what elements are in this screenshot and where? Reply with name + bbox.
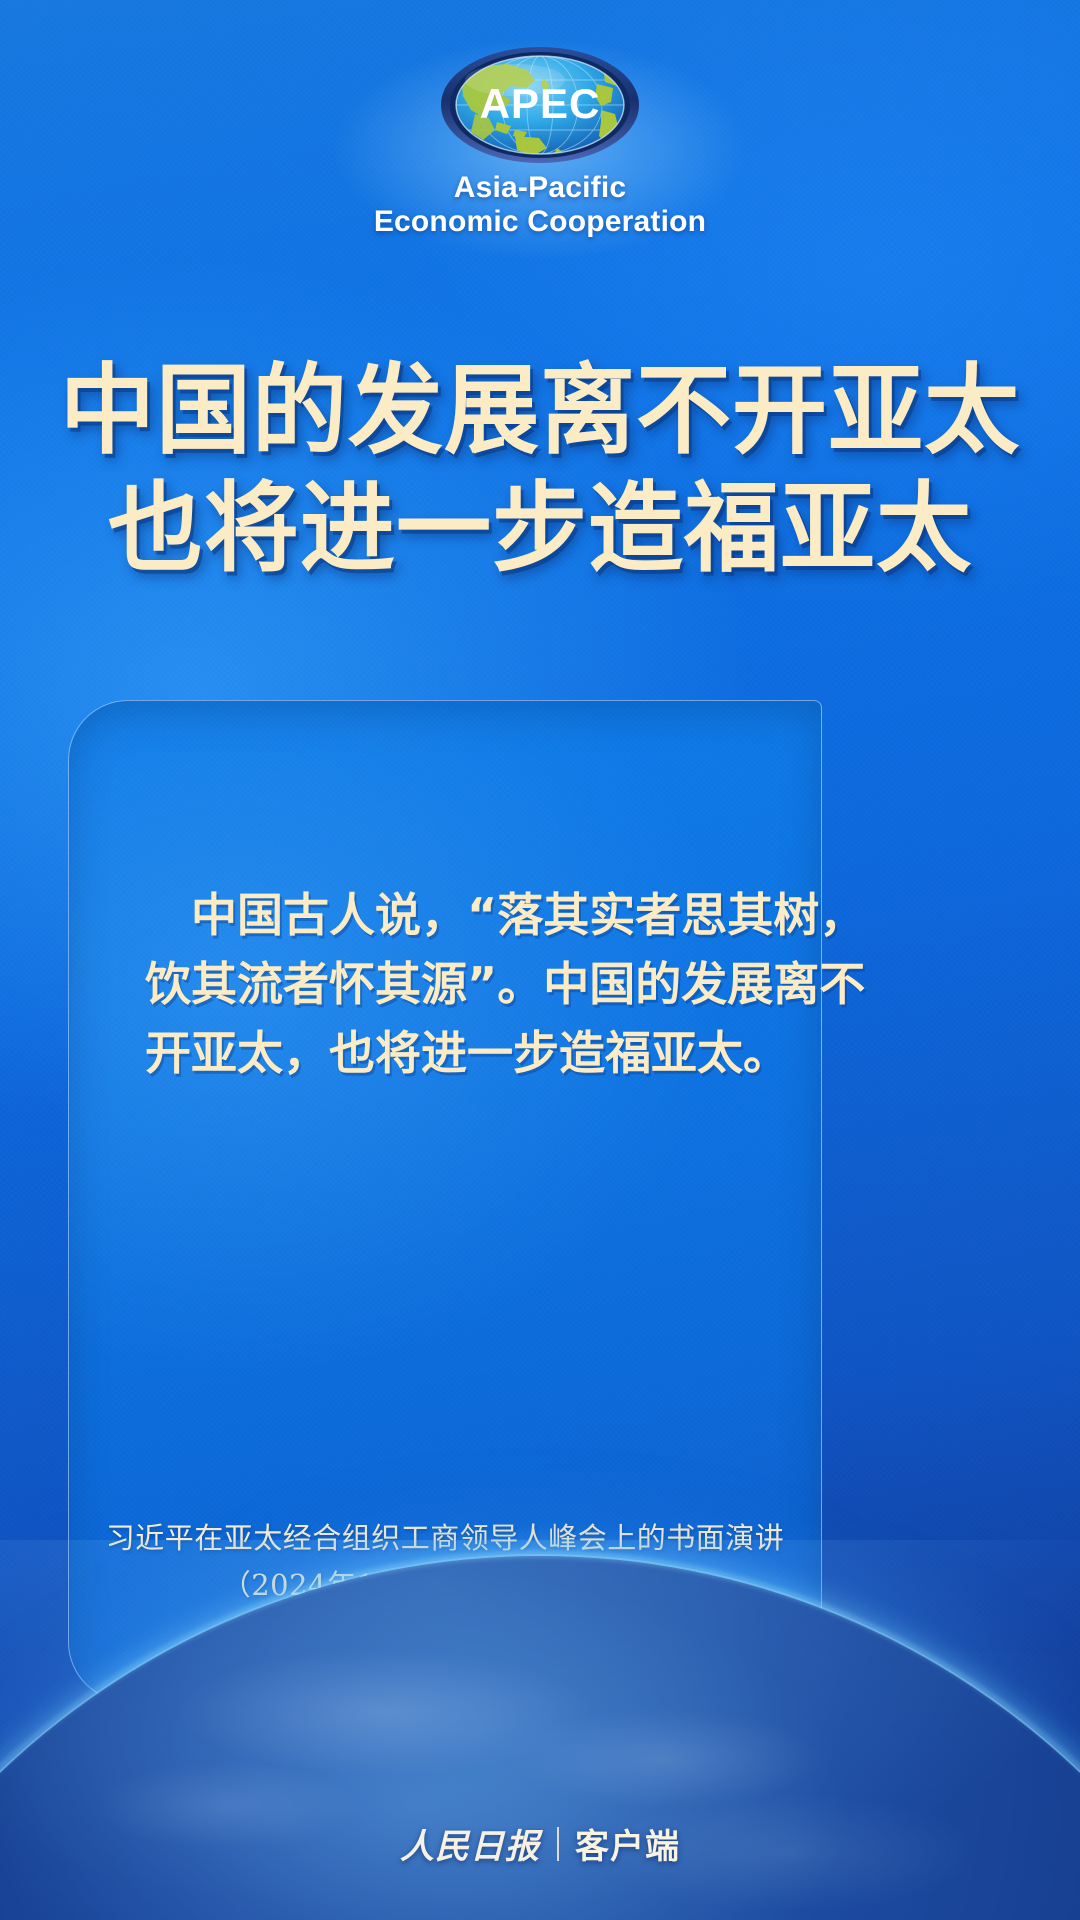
apec-globe-logo: APEC <box>415 44 665 166</box>
headline-line-2: 也将进一步造福亚太 <box>16 470 1064 588</box>
brand-peoples-daily: 人民日报 <box>400 1819 540 1868</box>
footer-brand: 人民日报 客户端 <box>0 1819 1080 1868</box>
apec-quote-poster: APEC Asia-Pacific Economic Cooperation 中… <box>0 0 1080 1920</box>
quote-line-1: 中国古人说，“落其实者思其树， <box>145 881 757 950</box>
poster-header: APEC Asia-Pacific Economic Cooperation <box>0 44 1080 239</box>
brand-app-name: 客户端 <box>575 1819 680 1868</box>
page-title: 中国的发展离不开亚太 也将进一步造福亚太 <box>0 352 1080 588</box>
svg-text:APEC: APEC <box>480 80 601 127</box>
quote-card: 中国古人说，“落其实者思其树， 饮其流者怀其源”。中国的发展离不 开亚太，也将进… <box>68 700 822 1702</box>
quote-text: 中国古人说，“落其实者思其树， 饮其流者怀其源”。中国的发展离不 开亚太，也将进… <box>145 881 757 1088</box>
quote-attribution: 习近平在亚太经合组织工商领导人峰会上的书面演讲 （2024年11月15日，秘鲁利… <box>69 1515 821 1609</box>
logo-subtitle-line1: Asia-Pacific <box>0 171 1080 205</box>
brand-divider <box>557 1827 559 1861</box>
attribution-line-1: 习近平在亚太经合组织工商领导人峰会上的书面演讲 <box>69 1515 821 1562</box>
headline-line-1: 中国的发展离不开亚太 <box>16 352 1064 470</box>
quote-line-3: 开亚太，也将进一步造福亚太。 <box>145 1019 757 1088</box>
logo-subtitle-line2: Economic Cooperation <box>0 205 1080 239</box>
quote-line-2: 饮其流者怀其源”。中国的发展离不 <box>145 950 757 1019</box>
attribution-line-2: （2024年11月15日，秘鲁利马） <box>69 1562 821 1609</box>
